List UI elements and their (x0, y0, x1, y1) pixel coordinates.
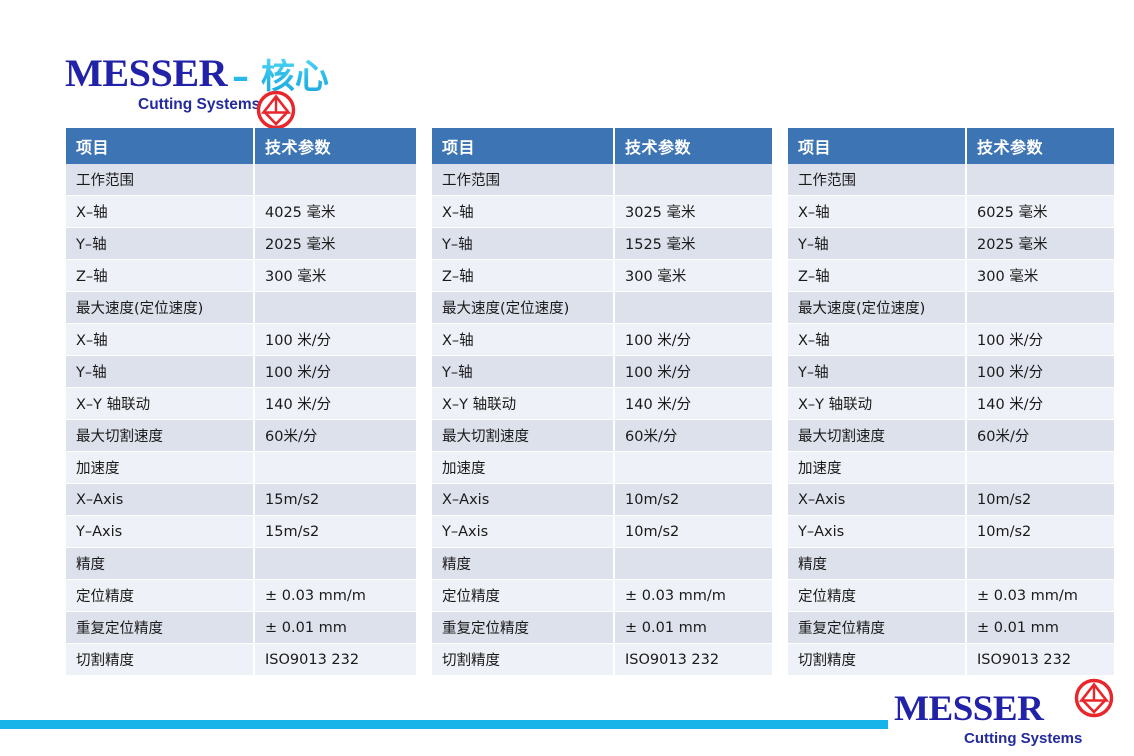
row-label: X–Y 轴联动 (788, 388, 966, 420)
table-row: Y–Axis10m/s2 (788, 516, 1114, 548)
table-row: 加速度 (788, 452, 1114, 484)
row-label: 重复定位精度 (788, 612, 966, 644)
row-label: 切割精度 (66, 644, 254, 676)
row-label: 定位精度 (432, 580, 614, 612)
row-value: 100 米/分 (614, 356, 772, 388)
table-header-row: 项目 技术参数 (432, 128, 772, 164)
row-label: Y–轴 (788, 228, 966, 260)
row-label: Y–轴 (432, 356, 614, 388)
row-value: 2025 毫米 (966, 228, 1114, 260)
table-row: 最大速度(定位速度) (66, 292, 416, 324)
row-value: 100 米/分 (254, 356, 416, 388)
row-value: ISO9013 232 (966, 644, 1114, 676)
table-row: X–Y 轴联动140 米/分 (66, 388, 416, 420)
table-header-row: 项目 技术参数 (66, 128, 416, 164)
row-value (614, 452, 772, 484)
row-label: 工作范围 (432, 164, 614, 196)
row-value (614, 548, 772, 580)
table-row: X–Y 轴联动140 米/分 (788, 388, 1114, 420)
column-header-value: 技术参数 (614, 128, 772, 164)
row-label: X–轴 (432, 324, 614, 356)
table-row: Y–轴100 米/分 (788, 356, 1114, 388)
column-header-item: 项目 (66, 128, 254, 164)
table-header-row: 项目 技术参数 (788, 128, 1114, 164)
row-value: 100 米/分 (966, 324, 1114, 356)
row-value (966, 164, 1114, 196)
row-value: ± 0.01 mm (966, 612, 1114, 644)
column-header-item: 项目 (788, 128, 966, 164)
row-label: 最大速度(定位速度) (788, 292, 966, 324)
table-row: X–Y 轴联动140 米/分 (432, 388, 772, 420)
table-row: 最大切割速度60米/分 (432, 420, 772, 452)
row-value: 60米/分 (614, 420, 772, 452)
table-row: Y–轴2025 毫米 (66, 228, 416, 260)
row-value: ISO9013 232 (614, 644, 772, 676)
table-row: 切割精度ISO9013 232 (432, 644, 772, 676)
table-body: 工作范围X–轴4025 毫米Y–轴2025 毫米Z–轴300 毫米最大速度(定位… (66, 164, 416, 676)
row-value: ± 0.03 mm/m (966, 580, 1114, 612)
page-footer: MESSER Cutting Systems (0, 676, 1134, 756)
row-label: 定位精度 (66, 580, 254, 612)
row-label: X–轴 (788, 324, 966, 356)
row-value: 140 米/分 (254, 388, 416, 420)
table-body: 工作范围X–轴6025 毫米Y–轴2025 毫米Z–轴300 毫米最大速度(定位… (788, 164, 1114, 676)
row-label: Y–轴 (788, 356, 966, 388)
row-value: 100 米/分 (254, 324, 416, 356)
table-row: X–轴3025 毫米 (432, 196, 772, 228)
row-value: 10m/s2 (966, 484, 1114, 516)
row-value: 300 毫米 (966, 260, 1114, 292)
row-value: 60米/分 (966, 420, 1114, 452)
page-header: MESSER Cutting Systems – 核心 (0, 0, 1134, 118)
row-label: 最大切割速度 (432, 420, 614, 452)
table-row: 最大切割速度60米/分 (788, 420, 1114, 452)
table-row: 最大速度(定位速度) (432, 292, 772, 324)
row-label: X–轴 (66, 324, 254, 356)
table-row: 工作范围 (788, 164, 1114, 196)
column-header-value: 技术参数 (966, 128, 1114, 164)
row-value: 1525 毫米 (614, 228, 772, 260)
table-row: X–轴100 米/分 (788, 324, 1114, 356)
table-row: Z–轴300 毫米 (432, 260, 772, 292)
row-value (614, 292, 772, 324)
table-row: 重复定位精度± 0.01 mm (432, 612, 772, 644)
table-row: 最大切割速度60米/分 (66, 420, 416, 452)
row-value: 4025 毫米 (254, 196, 416, 228)
row-label: 加速度 (432, 452, 614, 484)
row-value: 300 毫米 (614, 260, 772, 292)
row-label: 加速度 (66, 452, 254, 484)
table-row: X–Axis15m/s2 (66, 484, 416, 516)
table-row: Z–轴300 毫米 (788, 260, 1114, 292)
row-label: 定位精度 (788, 580, 966, 612)
row-value: 10m/s2 (614, 484, 772, 516)
row-value: 60米/分 (254, 420, 416, 452)
row-value: ISO9013 232 (254, 644, 416, 676)
row-label: 最大切割速度 (788, 420, 966, 452)
row-value: 300 毫米 (254, 260, 416, 292)
table-row: 精度 (66, 548, 416, 580)
row-value (614, 164, 772, 196)
brand-wordmark: MESSER (65, 54, 227, 93)
table-row: 加速度 (432, 452, 772, 484)
table-row: X–轴100 米/分 (66, 324, 416, 356)
row-value: 2025 毫米 (254, 228, 416, 260)
row-label: Z–轴 (432, 260, 614, 292)
brand-tagline: Cutting Systems (138, 97, 260, 113)
row-value: 100 米/分 (966, 356, 1114, 388)
table-row: 切割精度ISO9013 232 (66, 644, 416, 676)
row-value (254, 452, 416, 484)
row-value (966, 548, 1114, 580)
table-row: 定位精度± 0.03 mm/m (66, 580, 416, 612)
table-row: Y–轴100 米/分 (432, 356, 772, 388)
table-row: X–Axis10m/s2 (788, 484, 1114, 516)
row-label: Y–Axis (788, 516, 966, 548)
row-label: 最大切割速度 (66, 420, 254, 452)
row-value: 10m/s2 (966, 516, 1114, 548)
table-row: X–轴100 米/分 (432, 324, 772, 356)
row-label: 切割精度 (788, 644, 966, 676)
row-label: 工作范围 (66, 164, 254, 196)
row-value: ± 0.01 mm (254, 612, 416, 644)
row-label: X–Y 轴联动 (432, 388, 614, 420)
table-row: Y–Axis15m/s2 (66, 516, 416, 548)
row-label: Z–轴 (66, 260, 254, 292)
table-row: 最大速度(定位速度) (788, 292, 1114, 324)
row-label: Y–轴 (66, 228, 254, 260)
table-row: X–轴4025 毫米 (66, 196, 416, 228)
row-value: 3025 毫米 (614, 196, 772, 228)
row-value: ± 0.03 mm/m (614, 580, 772, 612)
row-label: 重复定位精度 (66, 612, 254, 644)
row-label: 最大速度(定位速度) (66, 292, 254, 324)
table-row: 定位精度± 0.03 mm/m (788, 580, 1114, 612)
table-row: X–轴6025 毫米 (788, 196, 1114, 228)
row-value (254, 548, 416, 580)
row-label: Y–Axis (432, 516, 614, 548)
spec-table-2: 项目 技术参数 工作范围X–轴3025 毫米Y–轴1525 毫米Z–轴300 毫… (432, 128, 772, 676)
row-label: 切割精度 (432, 644, 614, 676)
row-label: X–Y 轴联动 (66, 388, 254, 420)
table-row: 精度 (432, 548, 772, 580)
spec-table-3: 项目 技术参数 工作范围X–轴6025 毫米Y–轴2025 毫米Z–轴300 毫… (788, 128, 1114, 676)
footer-rule-left (0, 720, 900, 729)
table-row: 加速度 (66, 452, 416, 484)
footer-brand-tagline: Cutting Systems (964, 731, 1082, 746)
table-row: 定位精度± 0.03 mm/m (432, 580, 772, 612)
footer-brand-wordmark: MESSER (894, 690, 1043, 726)
row-value: 15m/s2 (254, 484, 416, 516)
table-body: 工作范围X–轴3025 毫米Y–轴1525 毫米Z–轴300 毫米最大速度(定位… (432, 164, 772, 676)
table-row: Z–轴300 毫米 (66, 260, 416, 292)
row-label: 重复定位精度 (432, 612, 614, 644)
row-label: Y–轴 (66, 356, 254, 388)
row-label: X–Axis (432, 484, 614, 516)
table-row: 重复定位精度± 0.01 mm (66, 612, 416, 644)
row-value (254, 292, 416, 324)
row-label: Y–轴 (432, 228, 614, 260)
table-row: 重复定位精度± 0.01 mm (788, 612, 1114, 644)
table-row: Y–轴2025 毫米 (788, 228, 1114, 260)
spec-tables-area: 项目 技术参数 工作范围X–轴4025 毫米Y–轴2025 毫米Z–轴300 毫… (0, 128, 1134, 676)
column-header-value: 技术参数 (254, 128, 416, 164)
table-row: X–Axis10m/s2 (432, 484, 772, 516)
row-label: 工作范围 (788, 164, 966, 196)
messer-logo-mark-icon (1074, 678, 1114, 718)
row-label: 精度 (788, 548, 966, 580)
table-row: 精度 (788, 548, 1114, 580)
footer-brand-logo: MESSER Cutting Systems (888, 676, 1134, 746)
row-label: X–Axis (66, 484, 254, 516)
row-label: 最大速度(定位速度) (432, 292, 614, 324)
table-row: 切割精度ISO9013 232 (788, 644, 1114, 676)
row-value: 100 米/分 (614, 324, 772, 356)
table-row: Y–Axis10m/s2 (432, 516, 772, 548)
row-value: 140 米/分 (614, 388, 772, 420)
row-value: ± 0.01 mm (614, 612, 772, 644)
table-row: Y–轴1525 毫米 (432, 228, 772, 260)
row-value (254, 164, 416, 196)
table-row: 工作范围 (432, 164, 772, 196)
row-label: Z–轴 (788, 260, 966, 292)
row-label: X–Axis (788, 484, 966, 516)
row-value: 140 米/分 (966, 388, 1114, 420)
row-label: 精度 (66, 548, 254, 580)
spec-table-1: 项目 技术参数 工作范围X–轴4025 毫米Y–轴2025 毫米Z–轴300 毫… (66, 128, 416, 676)
table-row: 工作范围 (66, 164, 416, 196)
row-label: 加速度 (788, 452, 966, 484)
row-value: 6025 毫米 (966, 196, 1114, 228)
row-label: X–轴 (788, 196, 966, 228)
row-value (966, 292, 1114, 324)
row-label: Y–Axis (66, 516, 254, 548)
row-value: ± 0.03 mm/m (254, 580, 416, 612)
row-value (966, 452, 1114, 484)
page-title: – 核心 (232, 56, 329, 99)
row-label: X–轴 (66, 196, 254, 228)
column-header-item: 项目 (432, 128, 614, 164)
row-value: 10m/s2 (614, 516, 772, 548)
row-label: 精度 (432, 548, 614, 580)
table-row: Y–轴100 米/分 (66, 356, 416, 388)
row-value: 15m/s2 (254, 516, 416, 548)
row-label: X–轴 (432, 196, 614, 228)
